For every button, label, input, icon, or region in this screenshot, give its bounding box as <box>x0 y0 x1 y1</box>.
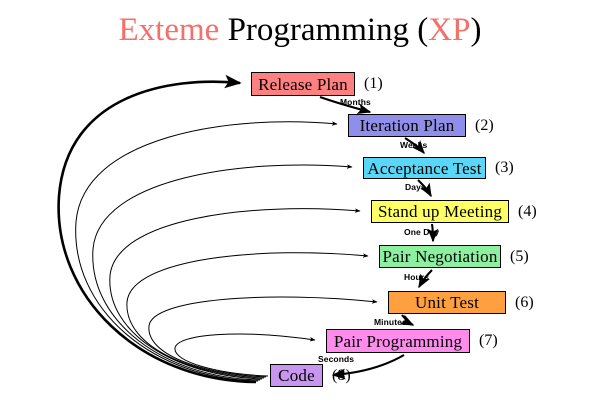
node-release-plan[interactable]: Release Plan <box>251 72 355 96</box>
feedback-code-to-acceptance <box>93 165 352 380</box>
node-number-2: (2) <box>475 117 494 135</box>
node-acceptance-test[interactable]: Acceptance Test <box>363 157 486 179</box>
feedback-code-to-iteration <box>76 122 337 381</box>
node-number-3: (3) <box>495 159 514 177</box>
time-label-hours: Hours <box>404 272 429 282</box>
time-label-days: Days <box>405 182 426 192</box>
node-number-7: (7) <box>479 332 498 350</box>
node-number-1: (1) <box>364 75 383 93</box>
node-unit-test[interactable]: Unit Test <box>388 291 506 314</box>
feedback-code-to-release <box>59 82 256 382</box>
time-label-one-day: One Day <box>404 227 439 237</box>
time-label-months: Months <box>340 97 371 107</box>
xp-cycle-diagram <box>0 0 600 400</box>
node-pair-negotiation[interactable]: Pair Negotiation <box>379 245 501 268</box>
node-iteration-plan[interactable]: Iteration Plan <box>348 114 466 137</box>
node-pair-programming[interactable]: Pair Programming <box>326 329 470 353</box>
node-number-8: (8) <box>332 367 351 385</box>
time-label-minutes: Minutes <box>374 317 407 327</box>
node-stand-up-meeting[interactable]: Stand up Meeting <box>371 200 509 223</box>
time-label-seconds: Seconds <box>318 354 354 364</box>
node-number-6: (6) <box>515 294 534 312</box>
node-code[interactable]: Code <box>270 364 323 387</box>
node-number-5: (5) <box>510 248 529 266</box>
node-number-4: (4) <box>518 203 537 221</box>
diagram-page: Exteme Programming (XP) <box>0 0 600 400</box>
time-label-weeks: Weeks <box>400 140 427 150</box>
